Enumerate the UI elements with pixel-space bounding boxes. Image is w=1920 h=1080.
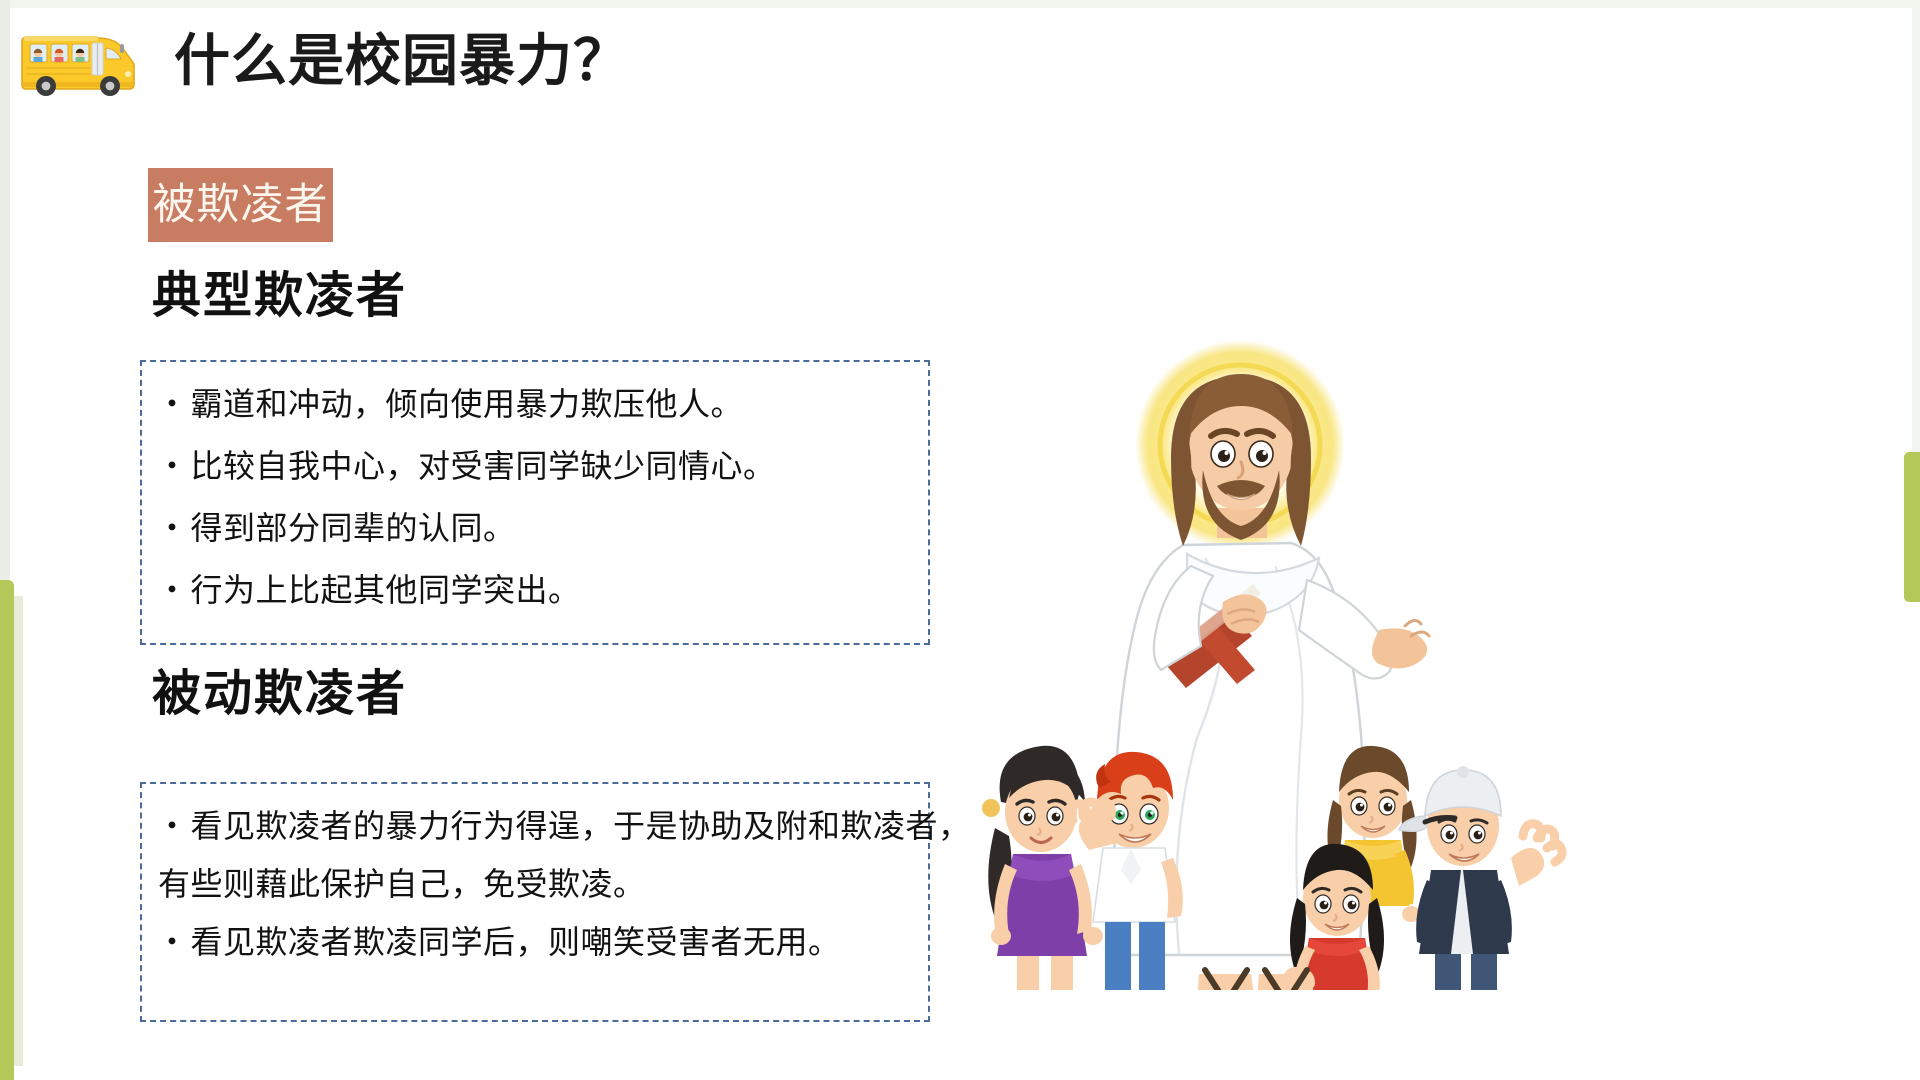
list-item-continuation: 有些则藉此保护自己，免受欺凌。	[156, 868, 928, 900]
typical-bully-traits-box: ・霸道和冲动，倾向使用暴力欺压他人。 ・比较自我中心，对受害同学缺少同情心。 ・…	[140, 360, 930, 645]
left-edge-green-inner-decoration	[14, 596, 23, 1066]
list-item: ・得到部分同辈的认同。	[156, 512, 928, 544]
list-item-text: 看见欺凌者欺凌同学后，则嘲笑受害者无用。	[191, 924, 841, 960]
status-badge-label: 被欺凌者	[153, 184, 329, 227]
open-hand	[1372, 620, 1429, 668]
list-item: ・比较自我中心，对受害同学缺少同情心。	[156, 450, 928, 482]
list-item-text: 霸道和冲动，倾向使用暴力欺压他人。	[191, 386, 744, 422]
school-bus-icon	[18, 22, 140, 100]
bullet-marker: ・	[156, 808, 189, 844]
girl-purple-dress	[982, 746, 1103, 990]
list-item-text: 得到部分同辈的认同。	[191, 510, 516, 546]
top-edge-decoration	[0, 0, 1920, 8]
boy-white-cap	[1399, 766, 1562, 990]
jesus-with-children-illustration	[955, 330, 1575, 990]
list-item: ・霸道和冲动，倾向使用暴力欺压他人。	[156, 388, 928, 420]
slide-header: 什么是校园暴力？	[18, 22, 630, 100]
bullet-marker: ・	[156, 924, 189, 960]
passive-bully-traits-box: ・看见欺凌者的暴力行为得逞，于是协助及附和欺凌者， 有些则藉此保护自己，免受欺凌…	[140, 782, 930, 1022]
right-edge-green-decoration	[1904, 452, 1920, 602]
right-edge-pale-decoration	[1912, 0, 1920, 452]
bullet-marker: ・	[156, 386, 189, 422]
list-item-text: 行为上比起其他同学突出。	[191, 572, 581, 608]
list-item-text: 有些则藉此保护自己，免受欺凌。	[158, 866, 646, 902]
bullet-marker: ・	[156, 510, 189, 546]
status-badge: 被欺凌者	[148, 168, 333, 242]
list-item: ・看见欺凌者的暴力行为得逞，于是协助及附和欺凌者，	[156, 810, 928, 842]
raised-waving-hand	[1511, 824, 1562, 886]
left-edge-pale-decoration	[0, 0, 10, 580]
page-title: 什么是校园暴力？	[174, 33, 630, 89]
list-item-text: 比较自我中心，对受害同学缺少同情心。	[191, 448, 776, 484]
bullet-marker: ・	[156, 448, 189, 484]
slide-canvas: 什么是校园暴力？ 被欺凌者 典型欺凌者 ・霸道和冲动，倾向使用暴力欺压他人。 ・…	[0, 0, 1920, 1080]
list-item: ・看见欺凌者欺凌同学后，则嘲笑受害者无用。	[156, 926, 928, 958]
section-heading-typical-bully: 典型欺凌者	[152, 272, 407, 321]
bullet-marker: ・	[156, 572, 189, 608]
left-edge-green-decoration	[0, 580, 14, 1080]
section-heading-passive-bully: 被动欺凌者	[152, 670, 407, 719]
list-item-text: 看见欺凌者的暴力行为得逞，于是协助及附和欺凌者，	[191, 808, 971, 844]
list-item: ・行为上比起其他同学突出。	[156, 574, 928, 606]
